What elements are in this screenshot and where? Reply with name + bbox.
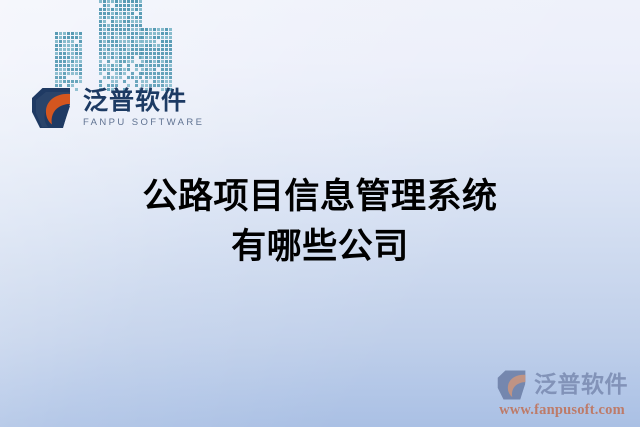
fanpu-logo-watermark-icon [496, 369, 530, 401]
promo-banner: 泛普软件 FANPU SOFTWARE 公路项目信息管理系统 有哪些公司 泛普软… [0, 0, 640, 427]
brand-lockup: 泛普软件 FANPU SOFTWARE [30, 86, 204, 130]
page-title: 公路项目信息管理系统 有哪些公司 [0, 172, 640, 272]
brand-name-en: FANPU SOFTWARE [83, 118, 204, 128]
watermark-logo-row: 泛普软件 [490, 369, 634, 401]
site-watermark: 泛普软件 www.fanpusoft.com [490, 369, 634, 419]
brand-name-cn: 泛普软件 [83, 88, 204, 113]
watermark-url: www.fanpusoft.com [490, 402, 634, 419]
watermark-name-cn: 泛普软件 [534, 374, 628, 397]
fanpu-logo-icon [30, 86, 76, 130]
pixel-buildings-icon [55, 0, 173, 92]
page-title-line-2: 有哪些公司 [0, 222, 640, 272]
page-title-line-1: 公路项目信息管理系统 [0, 172, 640, 222]
